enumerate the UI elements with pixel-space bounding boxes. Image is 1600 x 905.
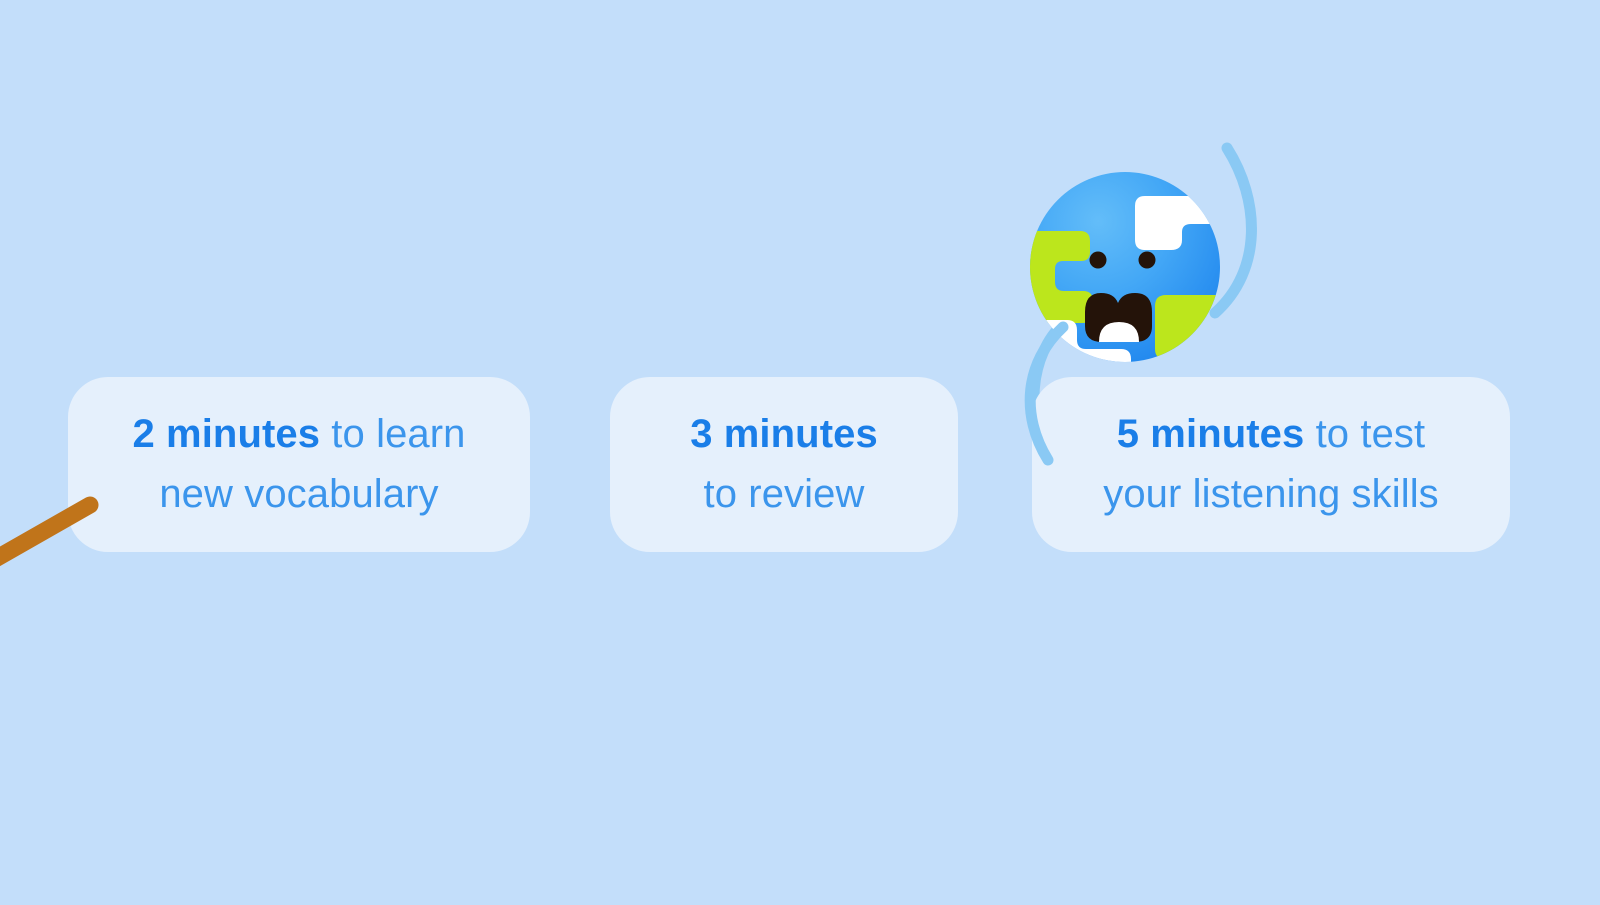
card-line-2: new vocabulary — [159, 465, 438, 524]
card-line-2: your listening skills — [1103, 465, 1439, 524]
info-card-learn-vocabulary[interactable]: 2 minutes to learn new vocabulary — [68, 377, 530, 552]
duration-value: 3 minutes — [690, 412, 878, 456]
duration-value: 2 minutes — [132, 412, 320, 456]
info-card-review[interactable]: 3 minutes to review — [610, 377, 958, 552]
info-card-listening-skills[interactable]: 5 minutes to test your listening skills — [1032, 377, 1510, 552]
mascot-right-arm — [1215, 148, 1251, 313]
duration-suffix: to test — [1304, 412, 1425, 456]
duration-value: 5 minutes — [1117, 412, 1305, 456]
eye-right — [1139, 252, 1156, 269]
duration-suffix: to learn — [320, 412, 465, 456]
eye-left — [1090, 252, 1107, 269]
page-root: 2 minutes to learn new vocabulary 3 minu… — [0, 0, 1600, 900]
card-line-1: 2 minutes to learn — [132, 405, 465, 464]
card-line-1: 5 minutes to test — [1117, 405, 1425, 464]
card-line-1: 3 minutes — [690, 405, 878, 464]
card-line-2: to review — [704, 465, 865, 524]
